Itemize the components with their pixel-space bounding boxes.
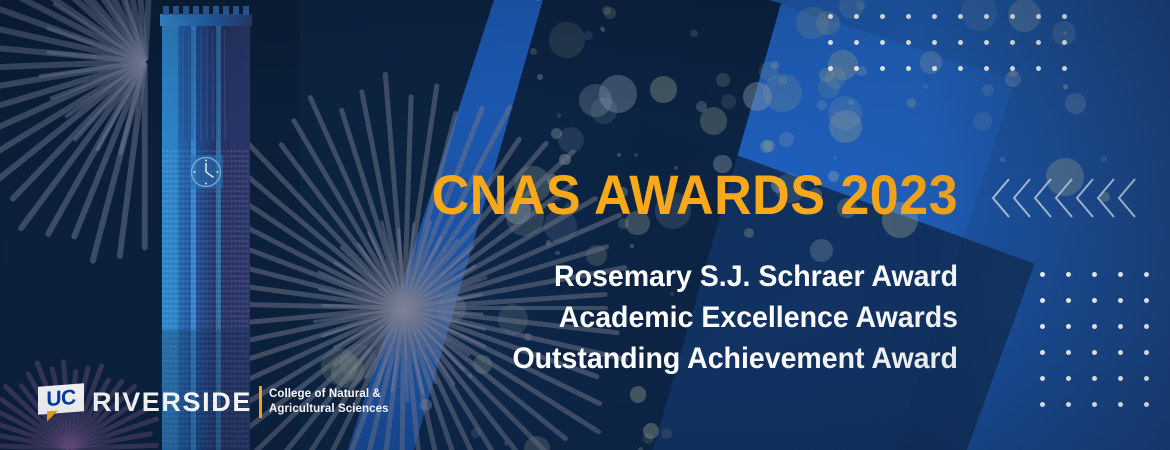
grid-dot xyxy=(1066,402,1071,407)
grid-dot xyxy=(1118,324,1123,329)
college-name: College of Natural & Agricultural Scienc… xyxy=(269,387,389,416)
award-item-2: Academic Excellence Awards xyxy=(512,297,958,338)
chevron-left-icon xyxy=(1032,176,1053,220)
chevron-left-icon xyxy=(1095,176,1116,220)
grid-dot xyxy=(1010,14,1015,19)
grid-dot xyxy=(1040,376,1045,381)
grid-dot xyxy=(828,14,833,19)
grid-dot xyxy=(1092,402,1097,407)
grid-dot xyxy=(1040,272,1045,277)
grid-dot xyxy=(984,40,989,45)
chevron-left-icon xyxy=(1074,176,1095,220)
grid-dot xyxy=(1036,14,1041,19)
grid-dot xyxy=(1066,324,1071,329)
grid-dot xyxy=(1092,324,1097,329)
grid-dot xyxy=(828,40,833,45)
grid-dot xyxy=(932,40,937,45)
grid-dot xyxy=(906,40,911,45)
grid-dot xyxy=(1144,324,1149,329)
grid-dot xyxy=(958,66,963,71)
grid-dot xyxy=(1118,272,1123,277)
grid-dot xyxy=(958,14,963,19)
grid-dot xyxy=(1118,402,1123,407)
grid-dot xyxy=(1092,298,1097,303)
award-item-3: Outstanding Achievement Award xyxy=(512,338,958,379)
dot-grid-bottom-right xyxy=(1040,272,1170,428)
grid-dot xyxy=(1062,14,1067,19)
grid-dot xyxy=(1062,66,1067,71)
grid-dot xyxy=(1040,350,1045,355)
cnas-awards-banner: CNAS AWARDS 2023 Rosemary S.J. Schraer A… xyxy=(0,0,1170,450)
grid-dot xyxy=(984,14,989,19)
logo-divider xyxy=(259,386,262,418)
grid-dot xyxy=(1118,376,1123,381)
grid-dot xyxy=(958,40,963,45)
grid-dot xyxy=(1010,40,1015,45)
grid-dot xyxy=(906,66,911,71)
grid-dot xyxy=(1066,272,1071,277)
riverside-wordmark: RIVERSIDE xyxy=(92,389,252,416)
grid-dot xyxy=(1144,402,1149,407)
chevron-left-icon xyxy=(1011,176,1032,220)
uc-badge-label: UC xyxy=(38,383,84,415)
grid-dot xyxy=(854,66,859,71)
grid-dot xyxy=(1144,272,1149,277)
grid-dot xyxy=(1092,376,1097,381)
chevron-left-icon xyxy=(1116,176,1137,220)
grid-dot xyxy=(1040,298,1045,303)
grid-dot xyxy=(1144,350,1149,355)
grid-dot xyxy=(984,66,989,71)
grid-dot xyxy=(1092,272,1097,277)
grid-dot xyxy=(1118,298,1123,303)
grid-dot xyxy=(828,66,833,71)
grid-dot xyxy=(1036,66,1041,71)
grid-dot xyxy=(1040,402,1045,407)
chevron-left-icon xyxy=(1053,176,1074,220)
awards-list: Rosemary S.J. Schraer Award Academic Exc… xyxy=(512,256,958,379)
dot-grid-top-right xyxy=(828,14,1088,92)
grid-dot xyxy=(1144,298,1149,303)
grid-dot xyxy=(1066,376,1071,381)
grid-dot xyxy=(880,66,885,71)
grid-dot xyxy=(1040,324,1045,329)
college-name-line1: College of Natural & xyxy=(269,387,389,402)
grid-dot xyxy=(1036,40,1041,45)
grid-dot xyxy=(1010,66,1015,71)
uc-badge-icon: UC xyxy=(38,383,84,421)
grid-dot xyxy=(1062,40,1067,45)
grid-dot xyxy=(1066,350,1071,355)
college-name-line2: Agricultural Sciences xyxy=(269,402,389,417)
grid-dot xyxy=(854,14,859,19)
grid-dot xyxy=(1118,350,1123,355)
page-title: CNAS AWARDS 2023 xyxy=(432,167,958,223)
award-item-1: Rosemary S.J. Schraer Award xyxy=(512,256,958,297)
grid-dot xyxy=(1144,376,1149,381)
chevron-left-icon xyxy=(990,176,1011,220)
grid-dot xyxy=(1092,350,1097,355)
grid-dot xyxy=(880,40,885,45)
grid-dot xyxy=(880,14,885,19)
grid-dot xyxy=(906,14,911,19)
grid-dot xyxy=(932,66,937,71)
grid-dot xyxy=(1066,298,1071,303)
chevron-arrows-left xyxy=(990,176,1137,220)
uc-riverside-logo: UC RIVERSIDE College of Natural & Agricu… xyxy=(38,382,389,422)
grid-dot xyxy=(932,14,937,19)
grid-dot xyxy=(854,40,859,45)
